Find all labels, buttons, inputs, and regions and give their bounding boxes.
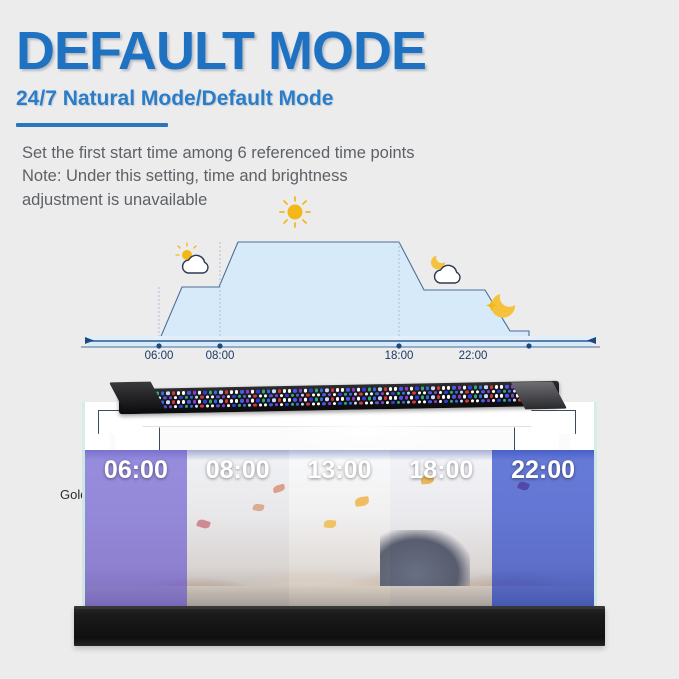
glass-pane-left (82, 450, 116, 608)
led-dot (341, 397, 344, 400)
led-dot (225, 399, 228, 402)
led-dot (267, 399, 270, 402)
axis-tick-dot (217, 343, 222, 348)
axis-tick-label: 08:00 (206, 350, 235, 362)
led-dot (484, 386, 487, 389)
description-line-1: Set the first start time among 6 referen… (22, 142, 602, 165)
time-panel-overlay (85, 450, 594, 608)
led-dot (399, 387, 402, 390)
led-dot (177, 391, 180, 394)
led-dot (299, 389, 302, 392)
led-dot (426, 387, 429, 390)
led-dot (243, 395, 246, 398)
led-dot (230, 390, 233, 393)
led-dot (177, 400, 180, 403)
led-dot (246, 390, 249, 393)
led-dot (222, 404, 225, 407)
led-dot (495, 394, 498, 397)
led-dot (198, 391, 201, 394)
led-dot (465, 390, 468, 393)
chart-svg (0, 196, 679, 368)
led-dot (415, 396, 418, 399)
time-panel-1300 (289, 450, 391, 608)
led-dot (375, 401, 378, 404)
led-dot (269, 394, 272, 397)
led-dot (460, 390, 463, 393)
led-dot (474, 386, 477, 389)
led-dot (248, 403, 251, 406)
led-dot (264, 403, 267, 406)
led-dot (412, 400, 415, 403)
led-dot (198, 400, 201, 403)
led-dot (301, 393, 304, 396)
led-dot (222, 395, 225, 398)
led-dot (179, 405, 182, 408)
title-underline-rule (16, 123, 168, 127)
led-dot (262, 399, 265, 402)
led-dot (333, 402, 336, 405)
tank-water-body: 06:0008:0013:0018:0022:00 (82, 450, 597, 608)
led-dot (169, 396, 172, 399)
led-dot (447, 386, 450, 389)
led-dot (476, 390, 479, 393)
led-dot (415, 387, 418, 390)
led-dot (322, 393, 325, 396)
led-dot (463, 395, 466, 398)
led-dot (495, 385, 498, 388)
led-dot (253, 394, 256, 397)
led-dot (235, 399, 238, 402)
led-dot (240, 399, 243, 402)
led-dot (500, 394, 503, 397)
led-dot (471, 399, 474, 402)
led-dot (272, 398, 275, 401)
led-dot (312, 402, 315, 405)
led-dot (333, 393, 336, 396)
led-dot (264, 394, 267, 397)
led-dot (291, 402, 294, 405)
led-dot (296, 402, 299, 405)
led-dot (481, 390, 484, 393)
led-dot (331, 397, 334, 400)
led-dot (450, 391, 453, 394)
led-dot (338, 393, 341, 396)
led-dot (320, 397, 323, 400)
time-panel-0800 (187, 450, 289, 608)
led-dot (272, 390, 275, 393)
led-dot (243, 403, 246, 406)
led-dot (163, 396, 166, 399)
led-dot (214, 400, 217, 403)
led-dot (465, 399, 468, 402)
led-dot (278, 390, 281, 393)
led-dot (161, 392, 164, 395)
led-dot (301, 402, 304, 405)
led-dot (317, 393, 320, 396)
led-dot (391, 401, 394, 404)
led-dot (431, 395, 434, 398)
led-dot (227, 404, 230, 407)
led-dot (365, 392, 368, 395)
led-dot (386, 401, 389, 404)
led-dot (373, 396, 376, 399)
description-line-2: Note: Under this setting, time and brigh… (22, 165, 602, 188)
led-dot (187, 391, 190, 394)
led-dot (397, 392, 400, 395)
led-dot (283, 398, 286, 401)
led-dot (370, 392, 373, 395)
led-dot (487, 399, 490, 402)
led-dot (275, 394, 278, 397)
led-dot (476, 399, 479, 402)
led-dot (471, 390, 474, 393)
led-dot (248, 394, 251, 397)
led-dot (309, 389, 312, 392)
led-dot (437, 395, 440, 398)
led-dot (450, 399, 453, 402)
led-dot (291, 394, 294, 397)
led-dot (344, 401, 347, 404)
led-dot (354, 401, 357, 404)
led-dot (439, 400, 442, 403)
led-dot (346, 397, 349, 400)
page-header: DEFAULT MODE 24/7 Natural Mode/Default M… (16, 24, 666, 127)
led-dot (174, 405, 177, 408)
led-dot (362, 388, 365, 391)
led-dot (267, 390, 270, 393)
led-dot (381, 392, 384, 395)
glass-pane-right (563, 450, 597, 608)
led-dot (172, 400, 175, 403)
led-dot (293, 389, 296, 392)
led-dot (285, 394, 288, 397)
led-dot (479, 394, 482, 397)
led-dot (500, 385, 503, 388)
led-dot (503, 390, 506, 393)
led-dot (306, 402, 309, 405)
led-dot (259, 394, 262, 397)
led-dot (373, 388, 376, 391)
aquarium-illustration: 06:0008:0013:0018:0022:00 (74, 382, 605, 650)
led-dot (368, 397, 371, 400)
led-dot (431, 387, 434, 390)
led-dot (423, 391, 426, 394)
led-dot (338, 402, 341, 405)
led-dot (452, 386, 455, 389)
axis-tick-dot (396, 343, 401, 348)
led-dot (179, 396, 182, 399)
led-dot (434, 391, 437, 394)
led-dot (384, 396, 387, 399)
led-dot (370, 401, 373, 404)
led-dot (410, 396, 413, 399)
led-dot (299, 398, 302, 401)
led-dot (240, 390, 243, 393)
led-dot (288, 398, 291, 401)
led-dot (442, 395, 445, 398)
led-dot (251, 399, 254, 402)
led-dot (322, 402, 325, 405)
led-dot (481, 399, 484, 402)
led-dot (479, 386, 482, 389)
led-dot (511, 394, 514, 397)
led-dot (341, 388, 344, 391)
light-schedule-chart: Gold yellow light White light Blue light (0, 196, 679, 368)
led-dot (423, 400, 426, 403)
led-dot (262, 390, 265, 393)
led-dot (421, 387, 424, 390)
led-dot (439, 391, 442, 394)
led-array (145, 384, 533, 410)
led-dot (232, 404, 235, 407)
led-dot (463, 386, 466, 389)
led-dot (402, 400, 405, 403)
led-dot (259, 403, 262, 406)
axis-band (85, 336, 596, 341)
page-title: DEFAULT MODE (16, 24, 666, 78)
led-dot (328, 393, 331, 396)
led-dot (399, 396, 402, 399)
led-dot (428, 391, 431, 394)
led-dot (269, 403, 272, 406)
led-dot (365, 401, 368, 404)
led-dot (304, 389, 307, 392)
led-dot (219, 399, 222, 402)
led-dot (193, 391, 196, 394)
led-dot (246, 399, 249, 402)
led-dot (389, 387, 392, 390)
led-dot (315, 389, 318, 392)
led-dot (206, 395, 209, 398)
led-dot (315, 398, 318, 401)
page-subtitle: 24/7 Natural Mode/Default Mode (16, 87, 666, 111)
led-dot (513, 398, 516, 401)
led-dot (320, 389, 323, 392)
led-dot (166, 400, 169, 403)
led-dot (293, 398, 296, 401)
led-dot (232, 395, 235, 398)
led-dot (352, 397, 355, 400)
led-dot (225, 391, 228, 394)
axis-tick-dot (526, 343, 531, 348)
led-dot (508, 389, 511, 392)
led-dot (283, 389, 286, 392)
led-dot (407, 391, 410, 394)
led-dot (384, 387, 387, 390)
led-dot (253, 403, 256, 406)
led-dot (211, 395, 214, 398)
led-dot (185, 404, 188, 407)
led-dot (325, 397, 328, 400)
led-dot (428, 400, 431, 403)
led-dot (193, 400, 196, 403)
led-dot (349, 393, 352, 396)
led-dot (468, 386, 471, 389)
led-dot (492, 390, 495, 393)
led-dot (172, 392, 175, 395)
tank-stand-base (74, 606, 605, 646)
led-dot (357, 388, 360, 391)
led-dot (209, 400, 212, 403)
led-dot (211, 404, 214, 407)
led-dot (349, 401, 352, 404)
led-dot (452, 395, 455, 398)
led-dot (359, 392, 362, 395)
led-dot (357, 397, 360, 400)
led-dot (331, 388, 334, 391)
led-dot (278, 398, 281, 401)
led-dot (426, 395, 429, 398)
led-dot (421, 396, 424, 399)
led-dot (503, 398, 506, 401)
led-dot (317, 402, 320, 405)
led-dot (354, 392, 357, 395)
led-dot (251, 390, 254, 393)
led-dot (203, 391, 206, 394)
tank-light-glow (274, 404, 454, 454)
led-dot (394, 396, 397, 399)
sun-cloud-icon (176, 243, 208, 273)
led-dot (346, 388, 349, 391)
led-dot (187, 400, 190, 403)
axis-tick-label: 22:00 (459, 350, 488, 362)
led-dot (474, 395, 477, 398)
led-dot (306, 393, 309, 396)
led-dot (195, 395, 198, 398)
led-dot (216, 395, 219, 398)
led-dot (375, 392, 378, 395)
led-dot (166, 392, 169, 395)
led-dot (497, 398, 500, 401)
led-dot (312, 393, 315, 396)
led-dot (434, 400, 437, 403)
led-dot (238, 395, 241, 398)
led-dot (288, 389, 291, 392)
led-dot (362, 397, 365, 400)
led-dot (386, 392, 389, 395)
led-dot (256, 390, 259, 393)
led-dot (484, 394, 487, 397)
led-dot (447, 395, 450, 398)
led-dot (344, 393, 347, 396)
led-dot (227, 395, 230, 398)
led-dot (296, 394, 299, 397)
led-dot (190, 396, 193, 399)
led-dot (203, 400, 206, 403)
led-dot (200, 404, 203, 407)
axis-tick-label: 06:00 (145, 350, 174, 362)
led-dot (275, 403, 278, 406)
led-dot (455, 391, 458, 394)
led-dot (391, 392, 394, 395)
led-dot (209, 391, 212, 394)
led-dot (280, 403, 283, 406)
led-dot (368, 388, 371, 391)
led-dot (182, 391, 185, 394)
led-dot (378, 388, 381, 391)
time-panel-1800 (390, 450, 492, 608)
led-dot (280, 394, 283, 397)
led-dot (444, 400, 447, 403)
led-dot (309, 398, 312, 401)
led-dot (182, 400, 185, 403)
axis-tick-label: 18:00 (385, 350, 414, 362)
led-dot (235, 390, 238, 393)
led-dot (328, 402, 331, 405)
led-dot (505, 394, 508, 397)
led-dot (505, 385, 508, 388)
led-dot (169, 405, 172, 408)
led-dot (508, 398, 511, 401)
led-dot (497, 390, 500, 393)
led-dot (437, 386, 440, 389)
led-dot (412, 391, 415, 394)
led-dot (442, 386, 445, 389)
led-dot (304, 398, 307, 401)
led-dot (490, 394, 493, 397)
led-dot (492, 399, 495, 402)
led-dot (336, 388, 339, 391)
led-dot (214, 391, 217, 394)
led-dot (410, 387, 413, 390)
led-dot (407, 400, 410, 403)
led-dot (458, 386, 461, 389)
led-dot (389, 396, 392, 399)
moon-cloud-icon (431, 256, 460, 283)
sun-icon (280, 197, 310, 227)
led-dot (285, 403, 288, 406)
led-dot (359, 401, 362, 404)
led-dot (455, 399, 458, 402)
led-dot (444, 391, 447, 394)
axis-tick-dot (156, 343, 161, 348)
led-dot (190, 404, 193, 407)
led-dot (230, 399, 233, 402)
led-dot (195, 404, 198, 407)
led-dot (216, 404, 219, 407)
led-dot (460, 399, 463, 402)
led-dot (490, 385, 493, 388)
led-dot (402, 392, 405, 395)
led-dot (418, 391, 421, 394)
led-dot (397, 400, 400, 403)
led-dot (394, 387, 397, 390)
led-dot (468, 395, 471, 398)
led-dot (405, 396, 408, 399)
led-dot (336, 397, 339, 400)
led-dot (378, 396, 381, 399)
led-dot (185, 396, 188, 399)
led-dot (418, 400, 421, 403)
led-dot (487, 390, 490, 393)
led-dot (174, 396, 177, 399)
led-dot (325, 389, 328, 392)
led-dot (352, 388, 355, 391)
led-dot (219, 391, 222, 394)
led-dot (405, 387, 408, 390)
led-dot (200, 395, 203, 398)
led-dot (381, 401, 384, 404)
led-dot (206, 404, 209, 407)
led-dot (256, 399, 259, 402)
led-dot (238, 403, 241, 406)
led-dot (458, 395, 461, 398)
